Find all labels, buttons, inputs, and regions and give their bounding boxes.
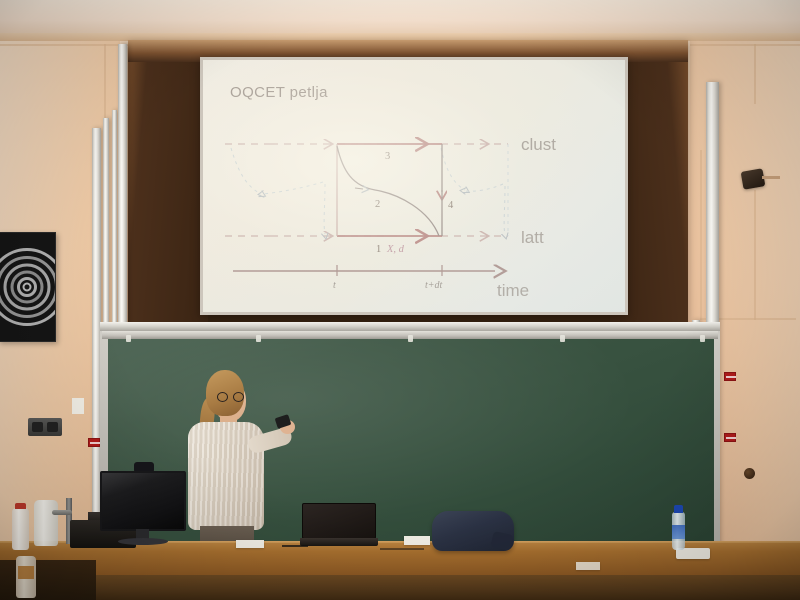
floor-cable (380, 548, 424, 550)
presenter (176, 370, 294, 560)
paper-sheet-desk (236, 540, 264, 548)
oqcet-loop-diagram: 3 2 4 1 X, d clust latt t t+dt time (203, 60, 625, 312)
paper-sheet-left (404, 536, 430, 545)
power-socket (28, 418, 62, 436)
slide-surface: OQCET petlja (203, 60, 625, 312)
step-label-2: 2 (375, 199, 380, 210)
axis-label-time: time (497, 281, 529, 300)
chalkboard-rail-top (100, 322, 720, 331)
red-label-left (88, 438, 100, 447)
wall-moulding-line (700, 150, 702, 320)
board-clip (408, 335, 413, 342)
red-label-upper (724, 372, 736, 381)
axis-tick-tdt: t+dt (425, 280, 443, 291)
wall-moulding-line (754, 190, 756, 320)
soap-bottle-2 (16, 556, 36, 598)
monitor-screen (100, 471, 186, 531)
desk-front (0, 575, 800, 600)
board-clip (256, 335, 261, 342)
tap-spout (52, 510, 72, 515)
speaker-bracket (741, 168, 766, 190)
laptop[interactable] (300, 503, 378, 547)
projection-screen: OQCET petlja (200, 57, 628, 315)
board-clip (126, 335, 131, 342)
math-label-Xd: X, d (386, 244, 405, 255)
laptop-base (300, 538, 378, 546)
board-clip (560, 335, 565, 342)
bottle-cap (674, 505, 683, 513)
soap-bottle-1 (12, 508, 29, 550)
backpack-strap (491, 531, 514, 551)
wall-note (72, 398, 84, 414)
row-label-latt: latt (521, 228, 544, 247)
backpack (432, 511, 514, 551)
axis-tick-t: t (333, 280, 336, 291)
board-clip (700, 335, 705, 342)
speaker-arm (762, 176, 780, 179)
wall-moulding-line (690, 44, 800, 46)
wall-moulding-line (0, 44, 130, 46)
spiral-poster (0, 232, 56, 342)
wall-knob (744, 468, 755, 479)
step-label-3: 3 (385, 151, 390, 162)
laptop-cable (282, 545, 308, 547)
water-bottle (672, 512, 685, 550)
row-label-clust: clust (521, 135, 556, 154)
red-label-lower (724, 433, 736, 442)
step-label-4: 4 (448, 200, 454, 211)
lecture-hall-photo: OQCET petlja (0, 0, 800, 600)
desktop-monitor[interactable] (100, 462, 186, 544)
screen-frame-left (128, 40, 208, 340)
desk-cabinet (0, 560, 96, 600)
ceiling (0, 0, 800, 34)
step-label-1: 1 (376, 244, 381, 255)
monitor-base (118, 538, 168, 545)
presenter-glasses (217, 392, 245, 402)
paper-sheet-front (576, 562, 600, 570)
bottle-label (672, 525, 685, 539)
wall-moulding-line (754, 44, 756, 104)
laptop-lid (302, 503, 376, 539)
